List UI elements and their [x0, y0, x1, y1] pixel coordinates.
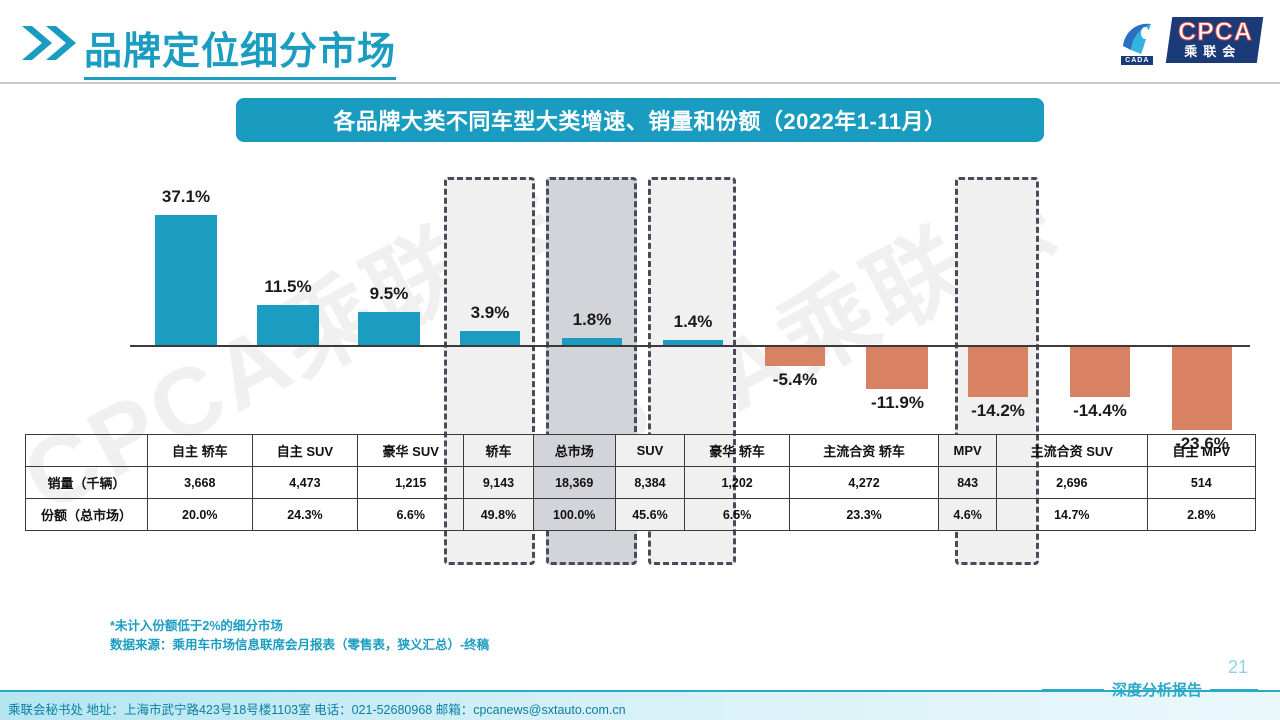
table-cell: 514	[1147, 467, 1255, 499]
bar-label-mainstream-jv-suv: -14.4%	[1054, 401, 1146, 421]
double-chevron-right-icon	[22, 26, 78, 65]
footnote-line-2: 数据来源：乘用车市场信息联席会月报表（零售表，狭义汇总）-终稿	[110, 636, 489, 655]
table-header-cell: MPV	[939, 435, 997, 467]
chart-title-banner: 各品牌大类不同车型大类增速、销量和份额（2022年1-11月）	[236, 98, 1044, 142]
table-cell: 23.3%	[789, 499, 938, 531]
report-tag-rule-left	[1042, 689, 1104, 691]
table-cell: 49.8%	[464, 499, 534, 531]
table-cell: 18,369	[533, 467, 615, 499]
bar-label-zizhu-sedan: 37.1%	[145, 187, 227, 207]
cpca-brand-cn-text: 乘联会	[1175, 45, 1250, 59]
table-cell: 843	[939, 467, 997, 499]
table-cell: 24.3%	[252, 499, 358, 531]
table-cell: 45.6%	[615, 499, 685, 531]
bar-sedan	[460, 331, 520, 345]
bar-mainstream-jv-suv	[1070, 347, 1130, 397]
bar-label-zizhu-suv: 11.5%	[247, 277, 329, 297]
table-header-cell: 自主 MPV	[1147, 435, 1255, 467]
table-header-cell: 豪华 轿车	[685, 435, 790, 467]
cpca-logo: CADA CPCA 乘联会	[1115, 16, 1260, 64]
table-cell: 4,272	[789, 467, 938, 499]
table-row-label: 份额（总市场）	[26, 499, 148, 531]
page-number: 21	[1228, 657, 1248, 678]
table-cell: 6.5%	[685, 499, 790, 531]
table-header-cell: 总市场	[533, 435, 615, 467]
table-header-cell: 自主 SUV	[252, 435, 358, 467]
table-cell: 100.0%	[533, 499, 615, 531]
slide-root: CPCA乘联会 CPCA乘联会 品牌定位细分市场 CADA CPCA 乘联会 各…	[0, 0, 1280, 720]
table-cell: 4.6%	[939, 499, 997, 531]
cpca-wordmark: CPCA 乘联会	[1166, 17, 1263, 63]
table-row: 份额（总市场） 20.0% 24.3% 6.6% 49.8% 100.0% 45…	[26, 499, 1256, 531]
bar-label-luxury-suv: 9.5%	[348, 284, 430, 304]
data-table: 自主 轿车 自主 SUV 豪华 SUV 轿车 总市场 SUV 豪华 轿车 主流合…	[25, 434, 1256, 531]
report-tag: 深度分析报告	[1042, 679, 1258, 700]
bar-zizhu-suv	[257, 305, 319, 345]
table-cell: 14.7%	[997, 499, 1148, 531]
report-tag-rule-right	[1210, 689, 1258, 691]
table-header-cell: 主流合资 SUV	[997, 435, 1148, 467]
bar-label-sedan: 3.9%	[449, 303, 531, 323]
table-row: 销量（千辆） 3,668 4,473 1,215 9,143 18,369 8,…	[26, 467, 1256, 499]
bar-label-luxury-sedan: -5.4%	[754, 370, 836, 390]
cpca-brand-text: CPCA	[1178, 20, 1253, 45]
table-corner-cell	[26, 435, 148, 467]
report-tag-text: 深度分析报告	[1112, 679, 1202, 700]
table-header-cell: 豪华 SUV	[358, 435, 464, 467]
bar-mainstream-jv-sedan	[866, 347, 928, 389]
bar-luxury-sedan	[765, 347, 825, 366]
table-header-cell: 轿车	[464, 435, 534, 467]
footer-contact-text: 乘联会秘书处 地址：上海市武宁路423号18号楼1103室 电话：021-526…	[8, 699, 626, 718]
table-cell: 8,384	[615, 467, 685, 499]
bar-mpv	[968, 347, 1028, 397]
cada-label: CADA	[1121, 56, 1153, 65]
table-cell: 4,473	[252, 467, 358, 499]
table-cell: 6.6%	[358, 499, 464, 531]
table-cell: 1,215	[358, 467, 464, 499]
table-cell: 2.8%	[1147, 499, 1255, 531]
bar-label-total-market: 1.8%	[551, 310, 633, 330]
table-cell: 3,668	[148, 467, 253, 499]
bar-label-mainstream-jv-sedan: -11.9%	[850, 393, 945, 413]
table-row-label: 销量（千辆）	[26, 467, 148, 499]
cada-emblem-icon: CADA	[1115, 16, 1163, 64]
table-cell: 9,143	[464, 467, 534, 499]
table-cell: 2,696	[997, 467, 1148, 499]
table-header-cell: 自主 轿车	[148, 435, 253, 467]
table-cell: 1,202	[685, 467, 790, 499]
bar-zizhu-sedan	[155, 215, 217, 345]
bar-zizhu-mpv	[1172, 347, 1232, 430]
table-header-row: 自主 轿车 自主 SUV 豪华 SUV 轿车 总市场 SUV 豪华 轿车 主流合…	[26, 435, 1256, 467]
bar-suv	[663, 340, 723, 345]
table-header-cell: SUV	[615, 435, 685, 467]
bar-label-mpv: -14.2%	[952, 401, 1044, 421]
footnotes: *未计入份额低于2%的细分市场 数据来源：乘用车市场信息联席会月报表（零售表，狭…	[110, 617, 489, 656]
chart-title-text: 各品牌大类不同车型大类增速、销量和份额（2022年1-11月）	[333, 104, 946, 136]
table-cell: 20.0%	[148, 499, 253, 531]
bar-total-market	[562, 338, 622, 345]
bar-luxury-suv	[358, 312, 420, 345]
footnote-line-1: *未计入份额低于2%的细分市场	[110, 617, 489, 636]
page-title: 品牌定位细分市场	[84, 20, 396, 80]
bar-label-suv: 1.4%	[652, 312, 734, 332]
header-divider	[0, 82, 1280, 84]
table-header-cell: 主流合资 轿车	[789, 435, 938, 467]
